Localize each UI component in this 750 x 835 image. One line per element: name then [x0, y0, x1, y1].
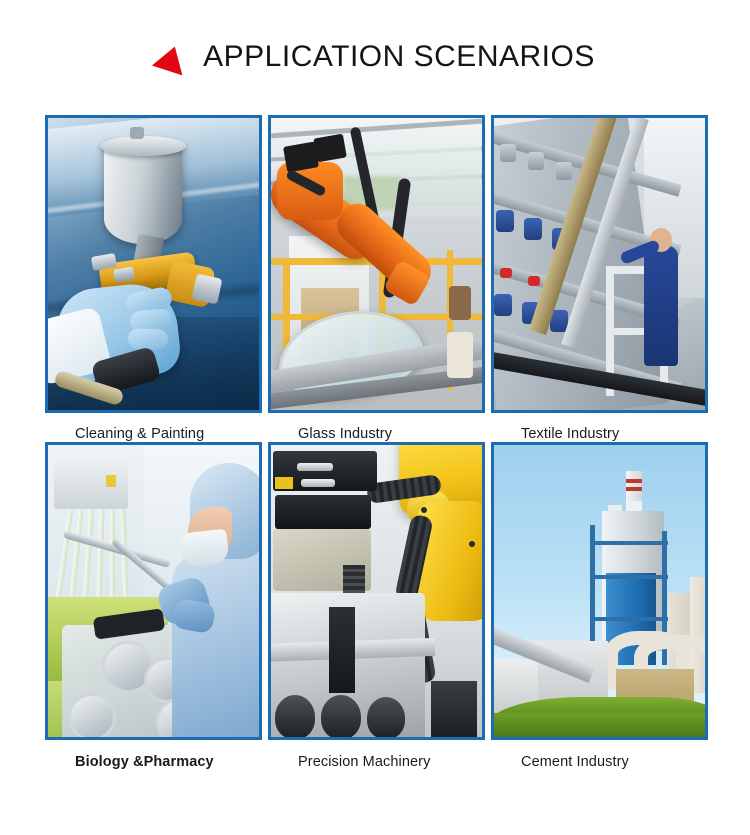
stack-stripe-2: [626, 487, 642, 491]
steel-cross-brace-1: [590, 541, 668, 545]
spindle-grey-1: [500, 144, 516, 162]
control-box: [54, 457, 128, 509]
scenario-caption: Precision Machinery: [268, 740, 485, 770]
cylinder-bore-3: [367, 697, 405, 739]
scenario-image-cement-industry[interactable]: [491, 442, 708, 740]
feed-tube-4: [96, 509, 104, 601]
clamp-bracket: [329, 607, 355, 693]
steel-cross-brace-3: [590, 617, 668, 621]
blue-bobbin-4: [494, 294, 512, 316]
robot-motor-block-2: [313, 134, 347, 163]
steel-cross-brace-2: [590, 575, 668, 579]
cylinder-bore-1: [275, 695, 315, 739]
red-cap-2: [528, 276, 540, 286]
spray-nozzle: [192, 274, 223, 305]
yellow-fitting: [275, 477, 293, 489]
tool-probe-1: [297, 463, 333, 471]
scenario-image-biology-pharmacy[interactable]: [45, 442, 262, 740]
scenario-card-textile-industry[interactable]: Textile Industry: [491, 115, 708, 442]
stack-stripe-1: [626, 479, 642, 483]
scenario-grid: Cleaning & Painting: [45, 115, 706, 770]
paint-cup: [104, 144, 182, 244]
warning-label: [106, 475, 116, 487]
scenario-caption: Cement Industry: [491, 740, 708, 770]
scenario-caption: Biology &Pharmacy: [45, 740, 262, 770]
paper-roll-2: [449, 286, 471, 320]
scenario-image-cleaning-painting[interactable]: [45, 115, 262, 413]
page-header: APPLICATION SCENARIOS: [0, 40, 750, 74]
feed-tube-5: [110, 509, 115, 601]
spindle-grey-2: [528, 152, 544, 170]
scenario-image-glass-industry[interactable]: [268, 115, 485, 413]
glove-finger-3: [128, 328, 169, 349]
tool-probe-2: [301, 479, 335, 487]
page-title: APPLICATION SCENARIOS: [203, 40, 595, 74]
scenario-image-textile-industry[interactable]: [491, 115, 708, 413]
scenario-caption: Glass Industry: [268, 413, 485, 442]
paper-roll-1: [447, 332, 473, 378]
scenario-caption: Cleaning & Painting: [45, 413, 262, 442]
scenario-card-biology-pharmacy[interactable]: Biology &Pharmacy: [45, 442, 262, 770]
paint-cup-lid: [100, 136, 186, 156]
worker-body: [644, 246, 678, 366]
scenario-image-precision-machinery[interactable]: [268, 442, 485, 740]
scenario-card-cement-industry[interactable]: Cement Industry: [491, 442, 708, 770]
red-cap-1: [500, 268, 512, 278]
fixture-post: [431, 681, 477, 740]
feed-tube-3: [83, 509, 94, 601]
spindle-grey-3: [556, 162, 572, 180]
red-triangle-icon: [152, 41, 190, 75]
blue-bobbin-2: [524, 218, 542, 240]
scenario-card-glass-industry[interactable]: Glass Industry: [268, 115, 485, 442]
scenario-card-precision-machinery[interactable]: Precision Machinery: [268, 442, 485, 770]
blue-bobbin-1: [496, 210, 514, 232]
tool-head-housing-2: [275, 495, 371, 529]
cylinder-bore-2: [321, 695, 361, 739]
paint-cup-knob: [130, 127, 144, 139]
application-scenarios-page: APPLICATION SCENARIOS: [0, 0, 750, 835]
machine-wheel-3: [68, 693, 116, 740]
robot-bolt-2: [469, 541, 475, 547]
tree-line-front: [491, 713, 708, 740]
robot-bolt-1: [421, 507, 427, 513]
scenario-caption: Textile Industry: [491, 413, 708, 442]
scenario-card-cleaning-painting[interactable]: Cleaning & Painting: [45, 115, 262, 442]
